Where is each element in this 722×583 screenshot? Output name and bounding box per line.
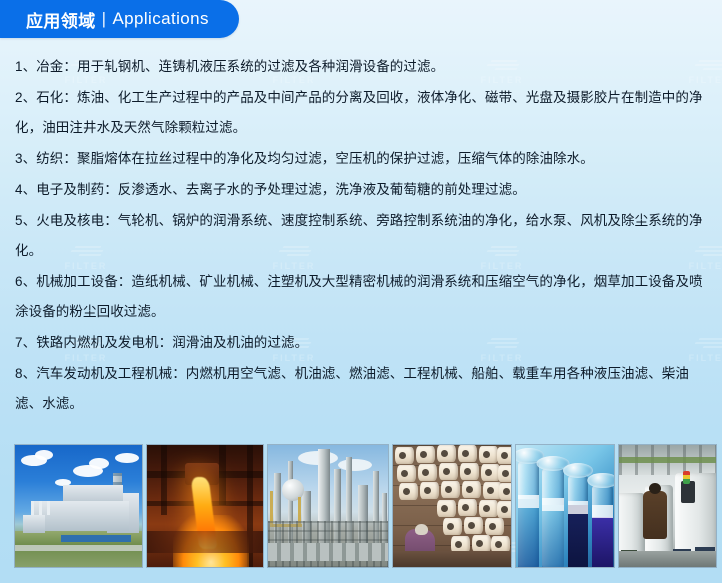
- application-item-petrochemical: 2、石化：炼油、化工生产过程中的产品及中间产品的分离及回收，液体净化、磁带、光盘…: [15, 83, 710, 143]
- applications-list: 1、冶金：用于轧钢机、连铸机液压系统的过滤及各种润滑设备的过滤。 2、石化：炼油…: [0, 52, 722, 420]
- steel-furnace-photo: [146, 444, 264, 568]
- textile-spools-photo: [392, 444, 512, 568]
- application-item-automotive-construction: 8、汽车发动机及工程机械：内燃机用空气滤、机油滤、燃油滤、工程机械、船舶、载重车…: [15, 359, 710, 419]
- laboratory-vials-photo: [515, 444, 615, 568]
- power-plant-photo: [14, 444, 143, 568]
- section-title-banner: 应用领域 | Applications: [0, 0, 239, 38]
- section-title-chinese: 应用领域: [26, 7, 96, 32]
- title-separator: |: [102, 9, 107, 29]
- application-item-machining-equipment: 6、机械加工设备：造纸机械、矿业机械、注塑机及大型精密机械的润滑系统和压缩空气的…: [15, 267, 710, 327]
- application-item-metallurgy: 1、冶金：用于轧钢机、连铸机液压系统的过滤及各种润滑设备的过滤。: [15, 52, 710, 82]
- petrochemical-plant-photo: [267, 444, 389, 568]
- application-item-railway-engines: 7、铁路内燃机及发电机：润滑油及机油的过滤。: [15, 328, 710, 358]
- section-title-english: Applications: [112, 9, 208, 29]
- application-photo-gallery: [14, 444, 711, 568]
- cnc-machining-photo: [618, 444, 717, 568]
- application-item-textile: 3、纺织：聚脂熔体在拉丝过程中的净化及均匀过滤，空压机的保护过滤，压缩气体的除油…: [15, 144, 710, 174]
- application-item-electronics-pharma: 4、电子及制药：反渗透水、去离子水的予处理过滤，洗净液及葡萄糖的前处理过滤。: [15, 175, 710, 205]
- application-item-thermal-nuclear-power: 5、火电及核电：气轮机、锅炉的润滑系统、速度控制系统、旁路控制系统油的净化，给水…: [15, 206, 710, 266]
